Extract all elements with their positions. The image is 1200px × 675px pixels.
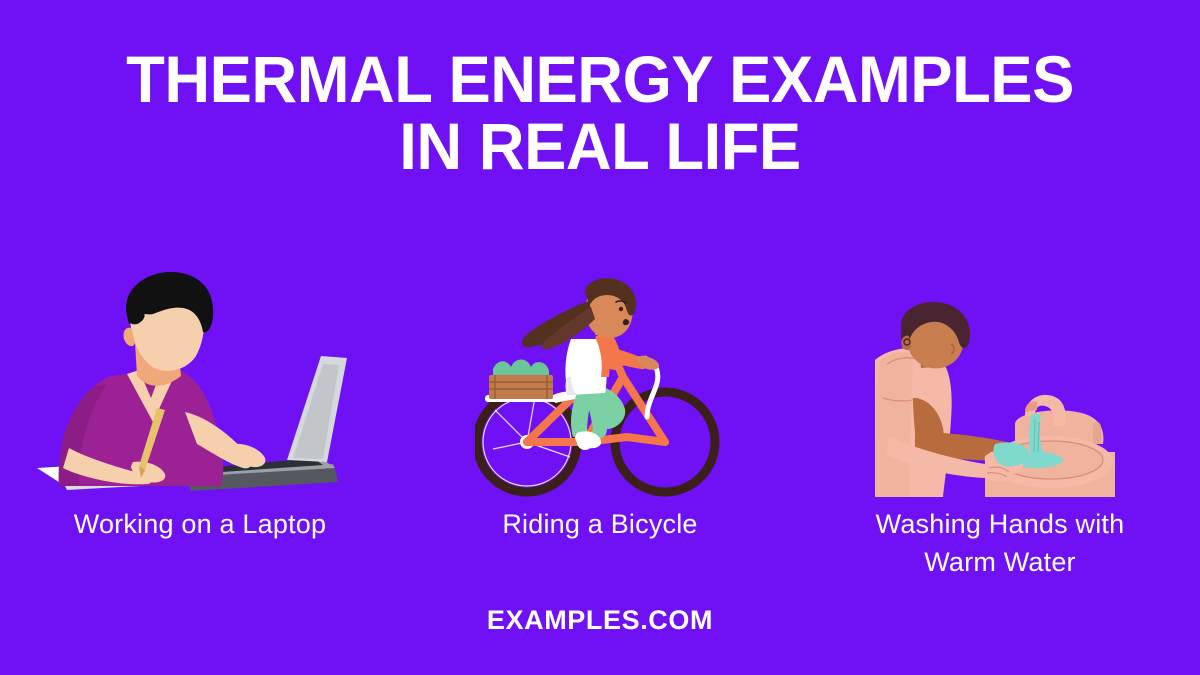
example-card-working-on-a-laptop — [0, 252, 400, 502]
brand-wordmark: EXAMPLES.COM — [487, 605, 713, 635]
caption-cell-1: Working on a Laptop — [0, 505, 400, 582]
illustration-row — [0, 252, 1200, 502]
caption-riding-a-bicycle: Riding a Bicycle — [418, 505, 782, 543]
caption-washing-hands-line-1: Washing Hands with — [818, 505, 1182, 543]
caption-working-on-a-laptop: Working on a Laptop — [18, 505, 382, 543]
footer: EXAMPLES.COM — [0, 605, 1200, 636]
title-line-2: IN REAL LIFE — [72, 113, 1128, 180]
page-title: THERMAL ENERGY EXAMPLES IN REAL LIFE — [50, 46, 1150, 181]
person-washing-hands-at-sink-icon — [865, 302, 1135, 502]
caption-cell-3: Washing Hands with Warm Water — [800, 505, 1200, 582]
title-line-1: THERMAL ENERGY EXAMPLES — [72, 46, 1128, 113]
poster-canvas: THERMAL ENERGY EXAMPLES IN REAL LIFE — [0, 0, 1200, 675]
man-writing-at-laptop-icon — [35, 272, 365, 502]
caption-washing-hands-line-2: Warm Water — [818, 543, 1182, 581]
caption-row: Working on a Laptop Riding a Bicycle Was… — [0, 505, 1200, 582]
caption-cell-2: Riding a Bicycle — [400, 505, 800, 582]
example-card-riding-a-bicycle — [400, 252, 800, 502]
woman-riding-bicycle-icon — [475, 277, 725, 502]
example-card-washing-hands-with-warm-water — [800, 252, 1200, 502]
